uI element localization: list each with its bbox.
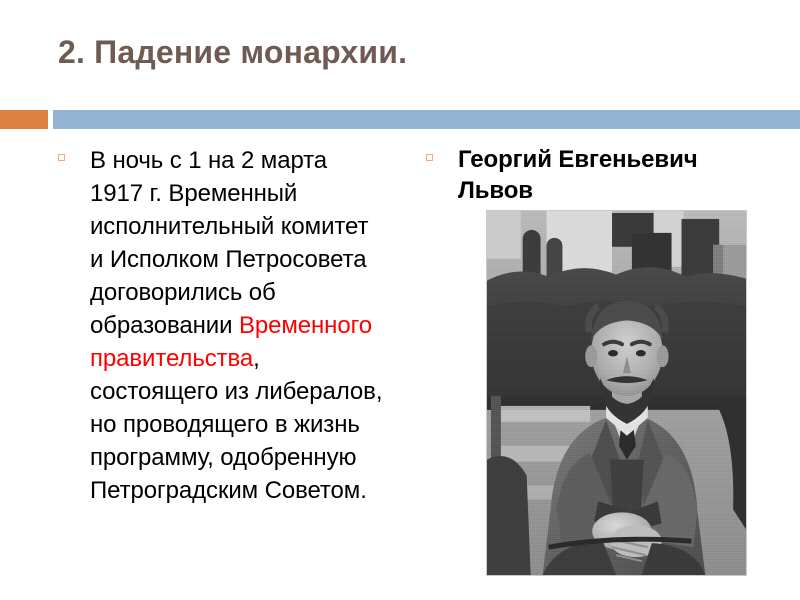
presentation-slide: 2. Падение монархии. В ночь с 1 на 2 мар… (0, 0, 800, 600)
right-content-column: Георгий Евгеньевич Львов (424, 144, 776, 206)
left-bullet-text: В ночь с 1 на 2 марта 1917 г. Временный … (90, 144, 386, 507)
title-divider (0, 110, 800, 129)
person-name-text: Георгий Евгеньевич Львов (458, 144, 776, 206)
divider-accent-block (0, 110, 48, 129)
portrait-photo-image (487, 211, 746, 575)
slide-title: 2. Падение монархии. (58, 34, 758, 71)
list-item: В ночь с 1 на 2 марта 1917 г. Временный … (56, 144, 386, 507)
divider-bar (53, 110, 800, 129)
list-item: Георгий Евгеньевич Львов (424, 144, 776, 206)
square-bullet-icon (426, 154, 433, 161)
portrait-photo (486, 210, 747, 576)
left-bullet-text-part-1: В ночь с 1 на 2 марта 1917 г. Временный … (90, 147, 368, 339)
square-bullet-icon (58, 154, 65, 161)
left-content-column: В ночь с 1 на 2 марта 1917 г. Временный … (56, 144, 386, 507)
